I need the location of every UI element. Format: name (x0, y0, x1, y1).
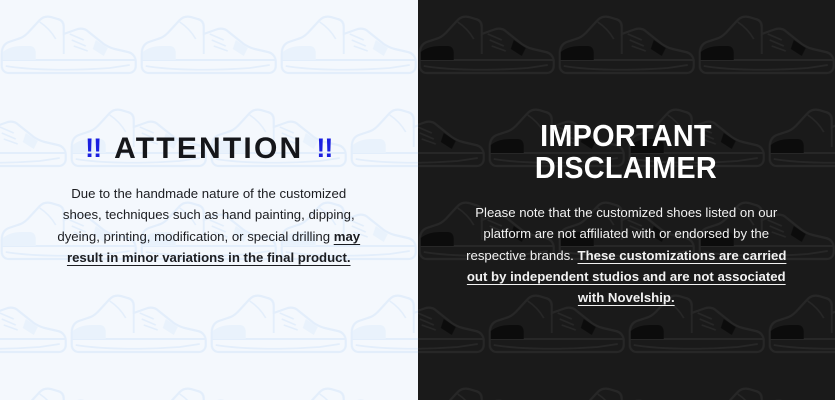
disclaimer-body: Please note that the customized shoes li… (461, 202, 791, 309)
disclaimer-banner: !! ATTENTION !! Due to the handmade natu… (0, 0, 835, 400)
disclaimer-content: IMPORTANT DISCLAIMER Please note that th… (418, 0, 835, 309)
attention-body-regular: Due to the handmade nature of the custom… (57, 186, 354, 244)
disclaimer-heading: IMPORTANT DISCLAIMER (535, 120, 717, 184)
attention-heading: !! ATTENTION !! (85, 134, 332, 164)
attention-panel: !! ATTENTION !! Due to the handmade natu… (0, 0, 418, 400)
exclamation-right-icon: !! (316, 135, 332, 162)
attention-content: !! ATTENTION !! Due to the handmade natu… (0, 0, 418, 269)
disclaimer-heading-line2: DISCLAIMER (535, 152, 717, 184)
attention-heading-text: ATTENTION (114, 134, 303, 164)
exclamation-left-icon: !! (85, 135, 101, 162)
disclaimer-panel: IMPORTANT DISCLAIMER Please note that th… (418, 0, 835, 400)
disclaimer-heading-line1: IMPORTANT (535, 120, 717, 152)
attention-body: Due to the handmade nature of the custom… (53, 183, 365, 269)
